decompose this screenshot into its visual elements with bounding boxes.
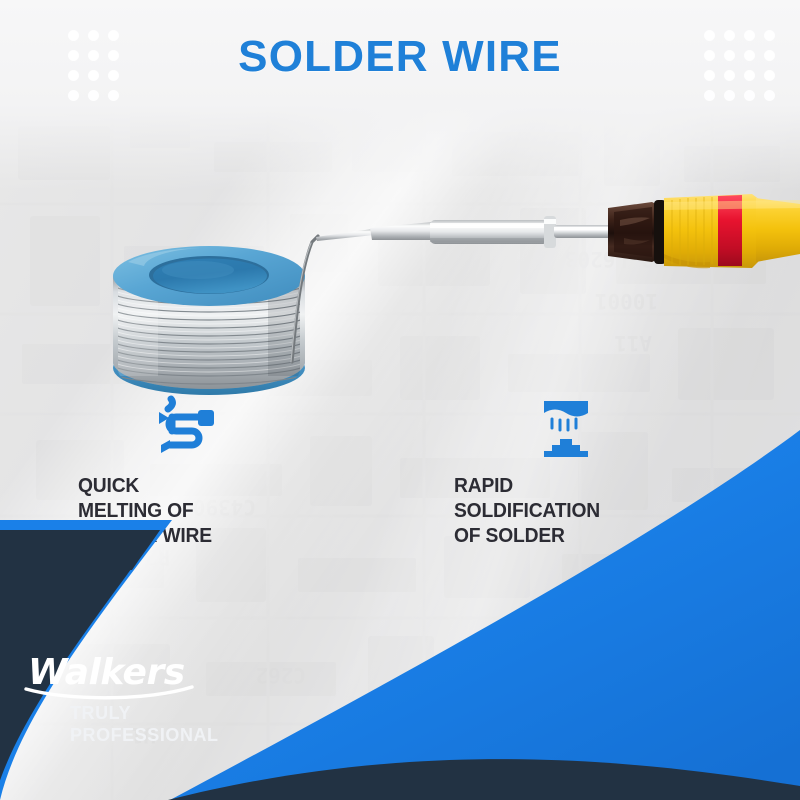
solder-solidification-drip-icon — [454, 395, 609, 461]
brand-logo: Walkers TRULY PROFESSIONAL — [22, 655, 272, 746]
svg-text:R2: R2 — [145, 545, 170, 569]
page-title: SOLDER WIRE — [0, 32, 800, 82]
feature-quick-melting: QUICK MELTING OF SOLDER WIRE — [0, 395, 222, 548]
svg-text:K7: K7 — [67, 615, 92, 639]
solder-wire-melting-icon — [78, 395, 222, 461]
product-banner: C4390 R2 C262 PA06200 PA09 U2 L6203 1000… — [0, 0, 800, 800]
feature-list: QUICK MELTING OF SOLDER WIRE RAPID SOLDI… — [0, 395, 800, 548]
feature-label: RAPID SOLDIFICATION OF SOLDER — [454, 473, 600, 548]
brand-tagline: TRULY PROFESSIONAL — [70, 702, 266, 746]
svg-text:PA06200 PA09: PA06200 PA09 — [492, 691, 644, 715]
product-photo — [0, 150, 800, 400]
feature-rapid-solidification: RAPID SOLDIFICATION OF SOLDER — [222, 395, 609, 548]
svg-text:J3500: J3500 — [455, 751, 518, 775]
feature-label: QUICK MELTING OF SOLDER WIRE — [78, 473, 213, 548]
feature-tin-lead-alloy: 63:37 TIN-LEAD ALLOY (LAB TESTED) — [609, 395, 800, 548]
soldering-iron — [316, 194, 800, 268]
solder-wire-spool — [112, 246, 308, 395]
